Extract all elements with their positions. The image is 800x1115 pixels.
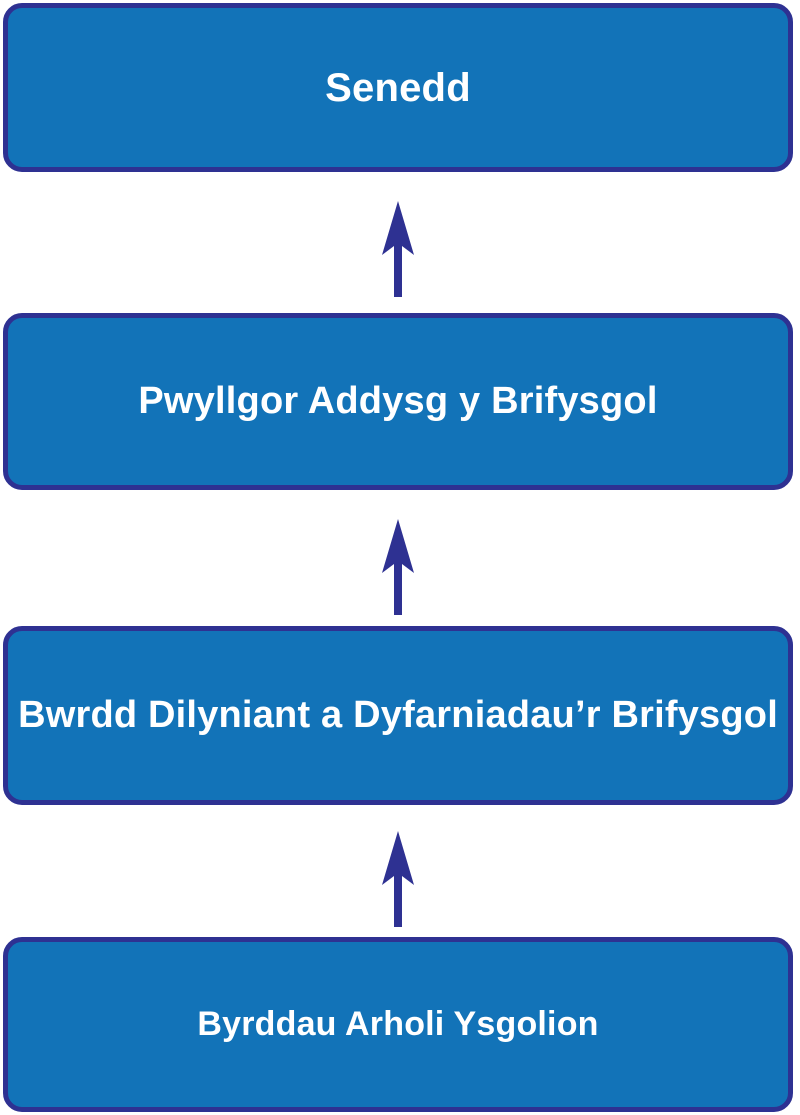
arrow-up-icon	[376, 518, 420, 616]
diagram-node-label: Byrddau Arholi Ysgolion	[183, 1006, 612, 1043]
diagram-node-byrddau-arholi: Byrddau Arholi Ysgolion	[3, 937, 793, 1112]
diagram-node-senedd: Senedd	[3, 3, 793, 172]
diagram-node-label: Bwrdd Dilyniant a Dyfarniadau’r Brifysgo…	[4, 695, 792, 737]
arrow-up-glyph	[376, 518, 420, 616]
arrow-up-glyph	[376, 830, 420, 928]
hierarchy-diagram: Senedd Pwyllgor Addysg y Brifysgol Bwrdd…	[0, 0, 800, 1115]
diagram-node-pwyllgor-addysg: Pwyllgor Addysg y Brifysgol	[3, 313, 793, 490]
diagram-node-label: Senedd	[311, 66, 485, 110]
arrow-up-icon	[376, 830, 420, 928]
diagram-node-bwrdd-dilyniant: Bwrdd Dilyniant a Dyfarniadau’r Brifysgo…	[3, 626, 793, 805]
arrow-up-glyph	[376, 200, 420, 298]
arrow-up-icon	[376, 200, 420, 298]
diagram-node-label: Pwyllgor Addysg y Brifysgol	[124, 381, 671, 423]
